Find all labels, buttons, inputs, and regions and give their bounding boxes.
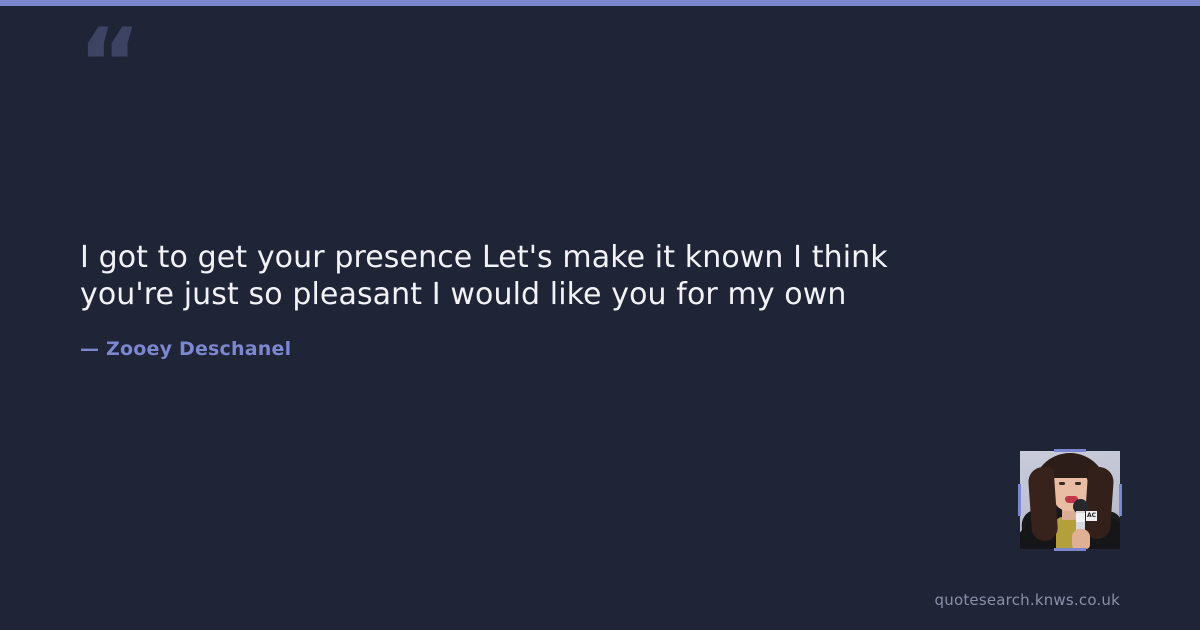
portrait-eye-left [1059,482,1065,485]
quote-attribution: — Zooey Deschanel [80,338,291,360]
source-url: quotesearch.knws.co.uk [935,591,1120,609]
portrait-hand [1072,529,1090,549]
portrait-eye-right [1075,482,1081,485]
portrait-bangs [1049,460,1093,478]
frame-tick-left [1018,484,1021,516]
portrait-hair-left [1027,466,1058,542]
portrait-frame: AC [1020,451,1120,549]
author-portrait: AC [1020,451,1120,549]
quote-text: I got to get your presence Let's make it… [80,240,980,313]
portrait-hair-right [1084,466,1115,540]
quote-card: “ I got to get your presence Let's make … [0,0,1200,630]
frame-tick-top [1054,449,1086,452]
top-accent-bar [0,0,1200,6]
opening-quote-icon: “ [78,16,139,112]
frame-tick-bottom [1054,548,1086,551]
microphone-flag-text: AC [1086,511,1097,521]
microphone-flag [1076,513,1085,522]
frame-tick-right [1119,484,1122,516]
